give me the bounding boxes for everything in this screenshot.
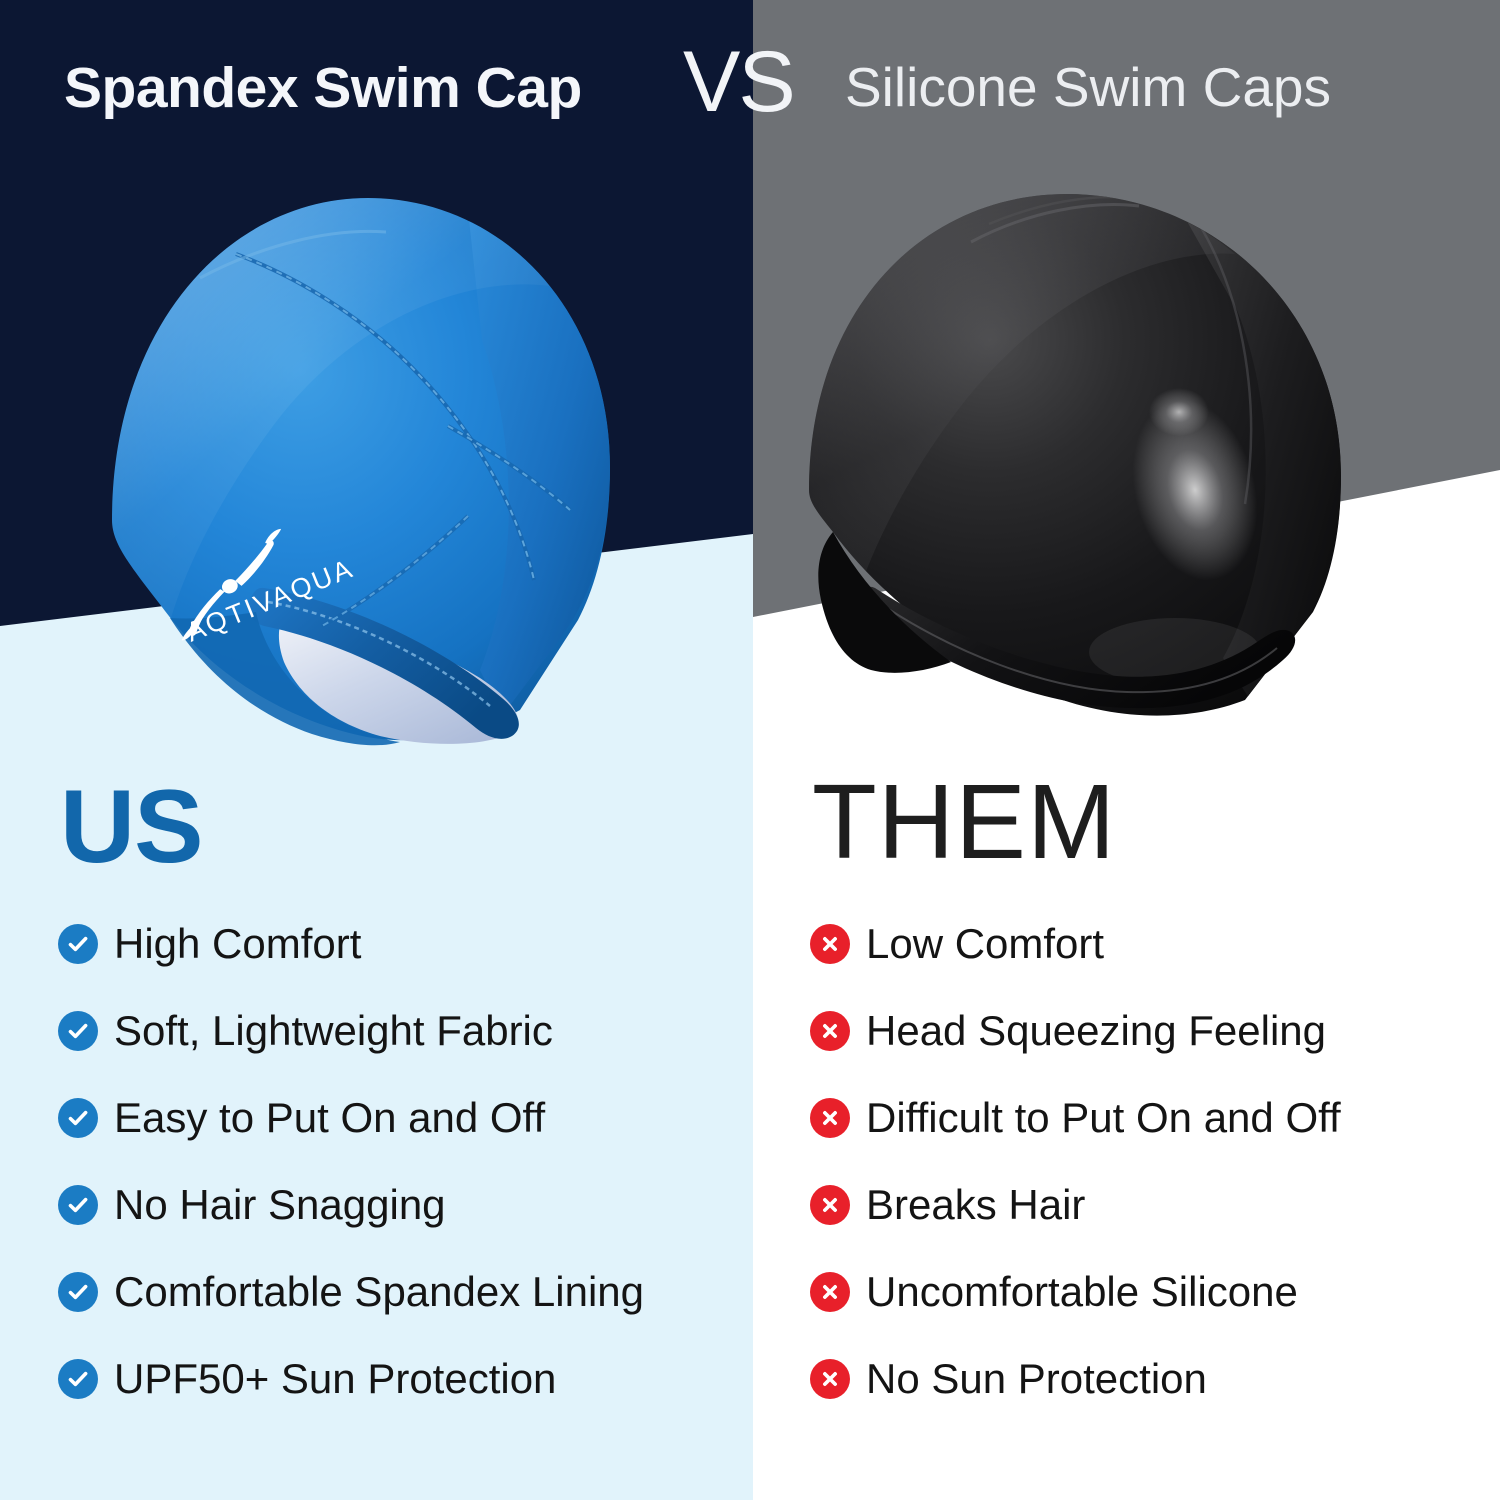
list-item-label: Breaks Hair <box>866 1184 1085 1226</box>
list-item: Difficult to Put On and Off <box>810 1079 1500 1157</box>
spandex-swim-cap-image: AQTIVAQUA <box>50 150 670 750</box>
check-circle-icon <box>58 1098 98 1138</box>
list-item-label: Difficult to Put On and Off <box>866 1097 1341 1139</box>
cross-circle-icon <box>810 1185 850 1225</box>
list-item-label: Uncomfortable Silicone <box>866 1271 1298 1313</box>
cross-circle-icon <box>810 1011 850 1051</box>
list-item: Comfortable Spandex Lining <box>58 1253 748 1331</box>
list-item-label: Soft, Lightweight Fabric <box>114 1010 553 1052</box>
list-item-label: Comfortable Spandex Lining <box>114 1271 644 1313</box>
check-circle-icon <box>58 1011 98 1051</box>
list-item: Low Comfort <box>810 905 1500 983</box>
list-item: No Sun Protection <box>810 1340 1500 1418</box>
list-item-label: UPF50+ Sun Protection <box>114 1358 556 1400</box>
header-left-title: Spandex Swim Cap <box>64 55 582 121</box>
list-item-label: Low Comfort <box>866 923 1104 965</box>
list-item: Uncomfortable Silicone <box>810 1253 1500 1331</box>
check-circle-icon <box>58 1359 98 1399</box>
check-circle-icon <box>58 1185 98 1225</box>
silicone-cap-illustration <box>775 160 1375 730</box>
list-item-label: No Hair Snagging <box>114 1184 446 1226</box>
header-vs-label: VS <box>683 33 794 132</box>
cross-circle-icon <box>810 1359 850 1399</box>
list-item: UPF50+ Sun Protection <box>58 1340 748 1418</box>
list-item-label: Head Squeezing Feeling <box>866 1010 1326 1052</box>
list-item: Breaks Hair <box>810 1166 1500 1244</box>
header-bar: Spandex Swim Cap VS Silicone Swim Caps <box>0 0 1500 160</box>
list-item: Head Squeezing Feeling <box>810 992 1500 1070</box>
spandex-cap-illustration: AQTIVAQUA <box>50 150 670 750</box>
them-column-heading: THEM <box>812 762 1116 883</box>
cross-circle-icon <box>810 1272 850 1312</box>
header-right-title: Silicone Swim Caps <box>845 55 1331 119</box>
silicone-swim-cap-image <box>775 160 1375 730</box>
comparison-infographic: AQTIVAQUA <box>0 0 1500 1500</box>
check-circle-icon <box>58 1272 98 1312</box>
cross-circle-icon <box>810 924 850 964</box>
list-item-label: High Comfort <box>114 923 361 965</box>
list-item-label: No Sun Protection <box>866 1358 1207 1400</box>
list-item: Easy to Put On and Off <box>58 1079 748 1157</box>
them-feature-list: Low Comfort Head Squeezing Feeling Diffi… <box>810 905 1500 1427</box>
check-circle-icon <box>58 924 98 964</box>
list-item-label: Easy to Put On and Off <box>114 1097 545 1139</box>
us-feature-list: High Comfort Soft, Lightweight Fabric Ea… <box>58 905 748 1427</box>
cross-circle-icon <box>810 1098 850 1138</box>
us-column-heading: US <box>60 768 202 887</box>
list-item: No Hair Snagging <box>58 1166 748 1244</box>
list-item: Soft, Lightweight Fabric <box>58 992 748 1070</box>
list-item: High Comfort <box>58 905 748 983</box>
